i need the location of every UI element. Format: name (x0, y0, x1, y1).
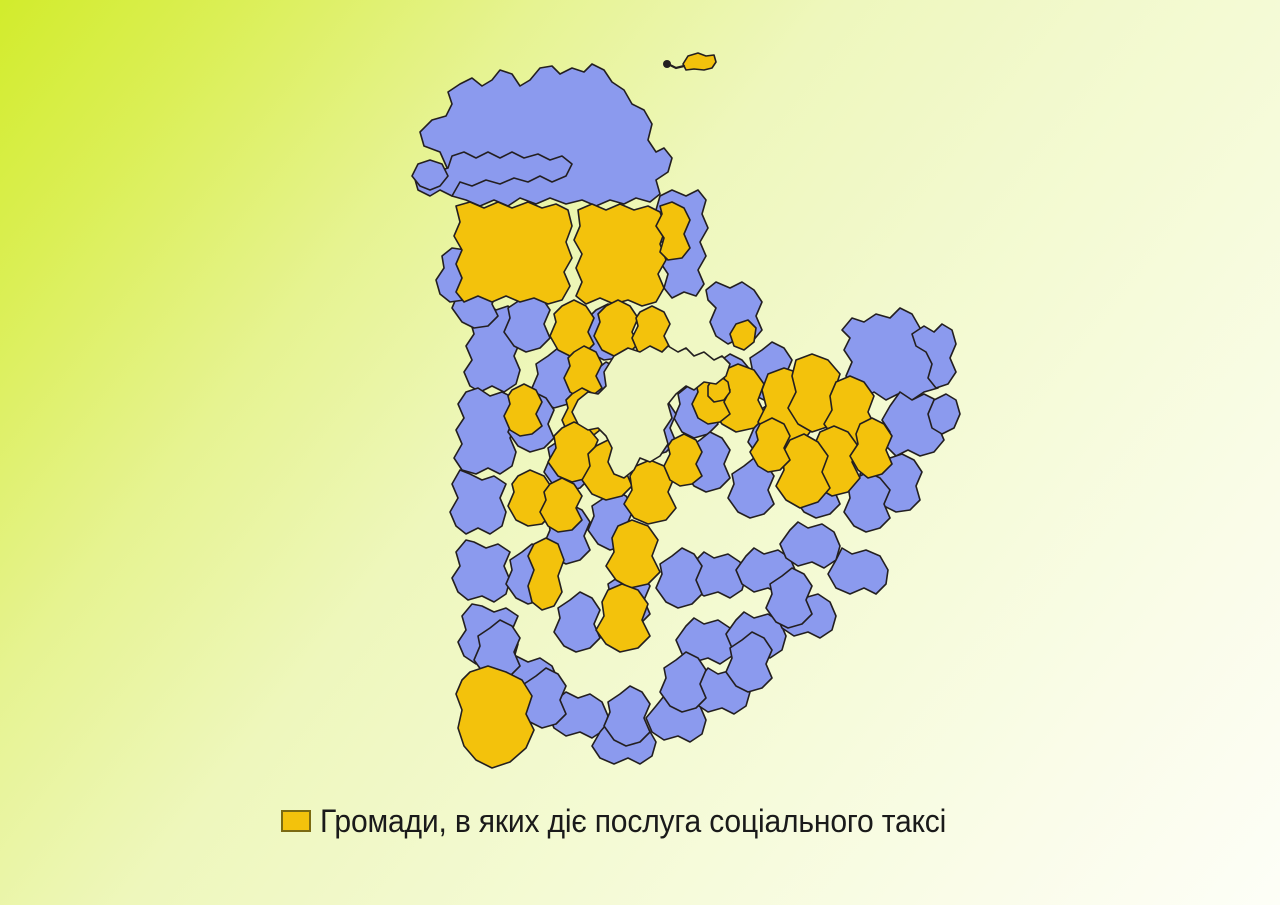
map-regions-default (412, 64, 960, 764)
legend-label: Громади, в яких діє послуга соціального … (320, 804, 946, 838)
northern-exclave-group (663, 53, 716, 70)
region-highlight-north-notch[interactable] (656, 202, 690, 260)
region-highlight-west-thin[interactable] (528, 538, 564, 610)
legend-swatch-highlight (281, 810, 311, 832)
map-container (0, 0, 1280, 905)
region-center-10[interactable] (554, 592, 600, 652)
map-kyiv-oblast-hromadas (0, 0, 1280, 905)
region-s-low-2[interactable] (660, 652, 706, 712)
region-s-low-1[interactable] (604, 686, 650, 746)
northern-exclave[interactable] (683, 53, 716, 70)
region-highlight-c14[interactable] (504, 384, 542, 436)
region-west-3[interactable] (450, 470, 506, 534)
slide-root: Громади, в яких діє послуга соціального … (0, 0, 1280, 905)
region-west-2[interactable] (454, 388, 516, 474)
region-highlight-southwest-big[interactable] (456, 666, 534, 768)
region-center-12[interactable] (656, 548, 702, 608)
legend: Громади, в яких діє послуга соціального … (281, 804, 986, 838)
exclave-dot (663, 60, 671, 68)
region-highlight-brovary-north[interactable] (574, 204, 666, 306)
exclave-tail-line (670, 65, 684, 68)
region-highlight-vyshhorod[interactable] (454, 202, 572, 304)
region-west-4[interactable] (452, 540, 510, 602)
region-highlight-c13[interactable] (596, 584, 650, 652)
